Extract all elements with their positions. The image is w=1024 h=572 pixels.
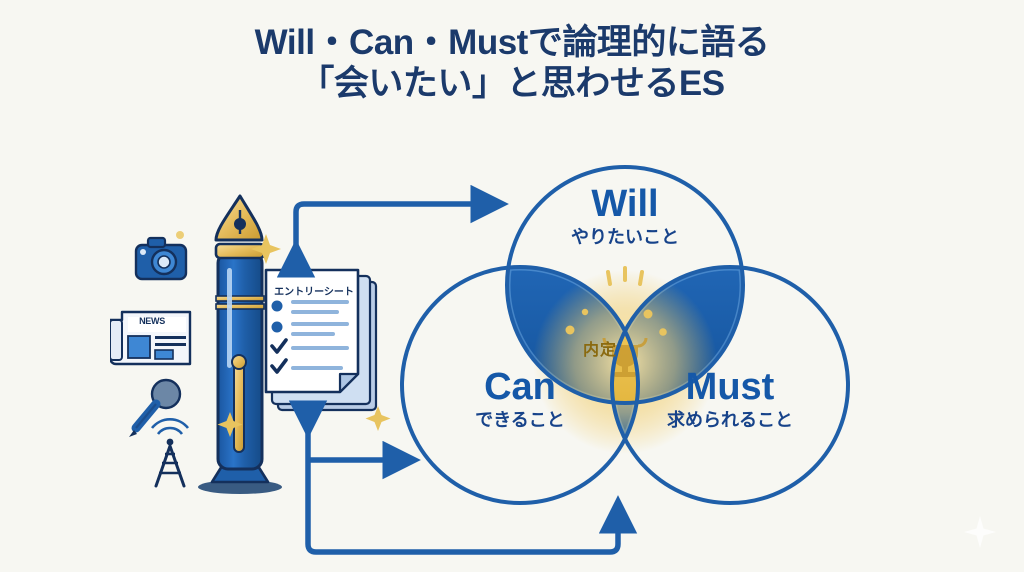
- venn-diagram: Will やりたいこと Can できること Must 求められること 内定: [380, 140, 880, 560]
- venn-svg: [380, 140, 880, 560]
- slide-canvas: Will・Can・Mustで論理的に語る 「会いたい」と思わせるES: [0, 0, 1024, 572]
- corner-sparkle-icon: [960, 512, 1000, 552]
